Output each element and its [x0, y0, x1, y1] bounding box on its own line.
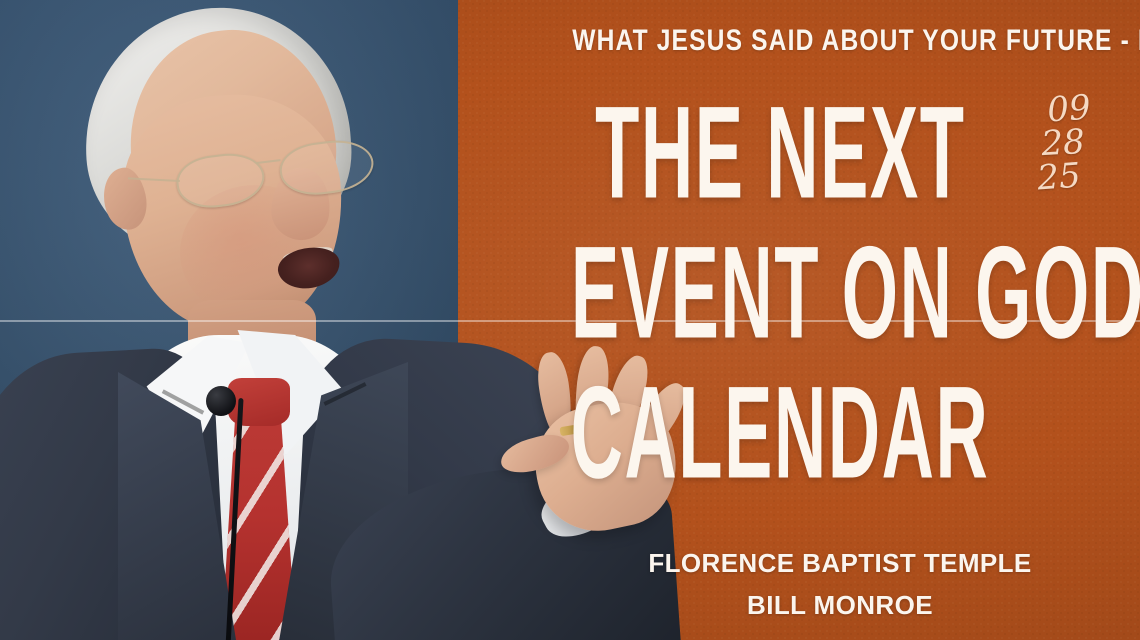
sermon-title-line-3-text: CALENDAR [571, 373, 990, 491]
speaker-name: BILL MONROE [560, 590, 1120, 621]
sermon-title-line-1-text: THE NEXT [595, 93, 965, 211]
sermon-title-line-2-text: EVENT ON GOD'S [571, 233, 1140, 351]
church-name: FLORENCE BAPTIST TEMPLE [560, 548, 1120, 579]
glasses-bridge [257, 159, 281, 164]
lens-left [174, 149, 268, 211]
lens-right [277, 136, 377, 199]
date-stamp: 09 28 25 [1028, 92, 1114, 194]
sermon-title-line-3: CALENDAR [470, 388, 1090, 476]
sermon-title-line-2: EVENT ON GOD'S [458, 248, 1098, 336]
series-kicker: WHAT JESUS SAID ABOUT YOUR FUTURE - PT. … [572, 24, 1048, 58]
date-year: 25 [1015, 157, 1103, 197]
microphone-head [206, 386, 236, 416]
sermon-title-line-1: THE NEXT [470, 108, 1090, 196]
sermon-title-card: WHAT JESUS SAID ABOUT YOUR FUTURE - PT. … [0, 0, 1140, 640]
